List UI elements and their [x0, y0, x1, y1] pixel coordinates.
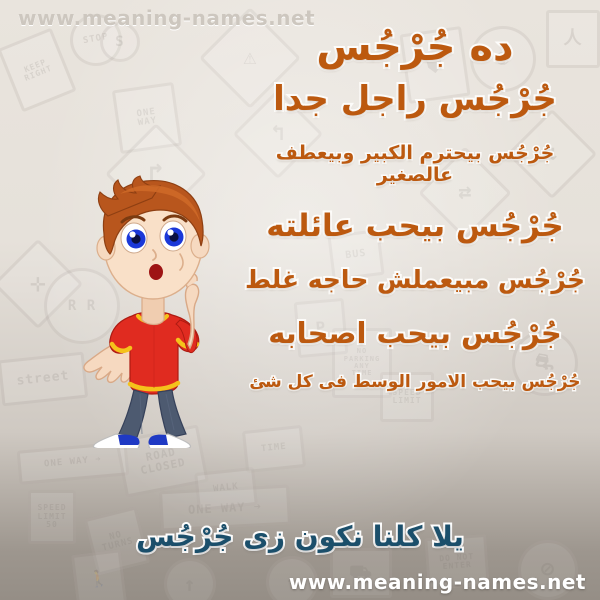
cartoon-boy-illustration — [60, 168, 240, 448]
headline-sub: جُرْجُس راجل جدا — [240, 80, 590, 119]
text-block: ده جُرْجُس جُرْجُس راجل جدا جُرْجُس بيحت… — [240, 24, 590, 392]
boy-neck — [142, 296, 164, 325]
boy-mouth — [149, 264, 163, 280]
footer-line: يلا كلنا نكون زى جُرْجُس — [0, 520, 600, 553]
name-meaning-card: STOPKEEP RIGHTONE WAY↱✛R RstreetONE WAY … — [0, 0, 600, 600]
trait-line-5: جُرْجُس بيحب الامور الوسط فى كل شئ — [240, 373, 590, 393]
trait-line-4: جُرْجُس بيحب اصحابه — [240, 317, 590, 350]
call-to-action-text: يلا كلنا نكون زى جُرْجُس — [136, 520, 464, 553]
trait-line-2: جُرْجُس بيحب عائلته — [240, 209, 590, 245]
bottom-watermark: www.meaning-names.net — [289, 570, 586, 594]
headline-main: ده جُرْجُس — [240, 24, 590, 70]
boy-legs — [118, 390, 186, 440]
trait-line-1: جُرْجُس بيحترم الكبير وبيعطف عالصغير — [240, 143, 590, 187]
trait-line-3: جُرْجُس مبيعملش حاجه غلط — [240, 266, 590, 295]
